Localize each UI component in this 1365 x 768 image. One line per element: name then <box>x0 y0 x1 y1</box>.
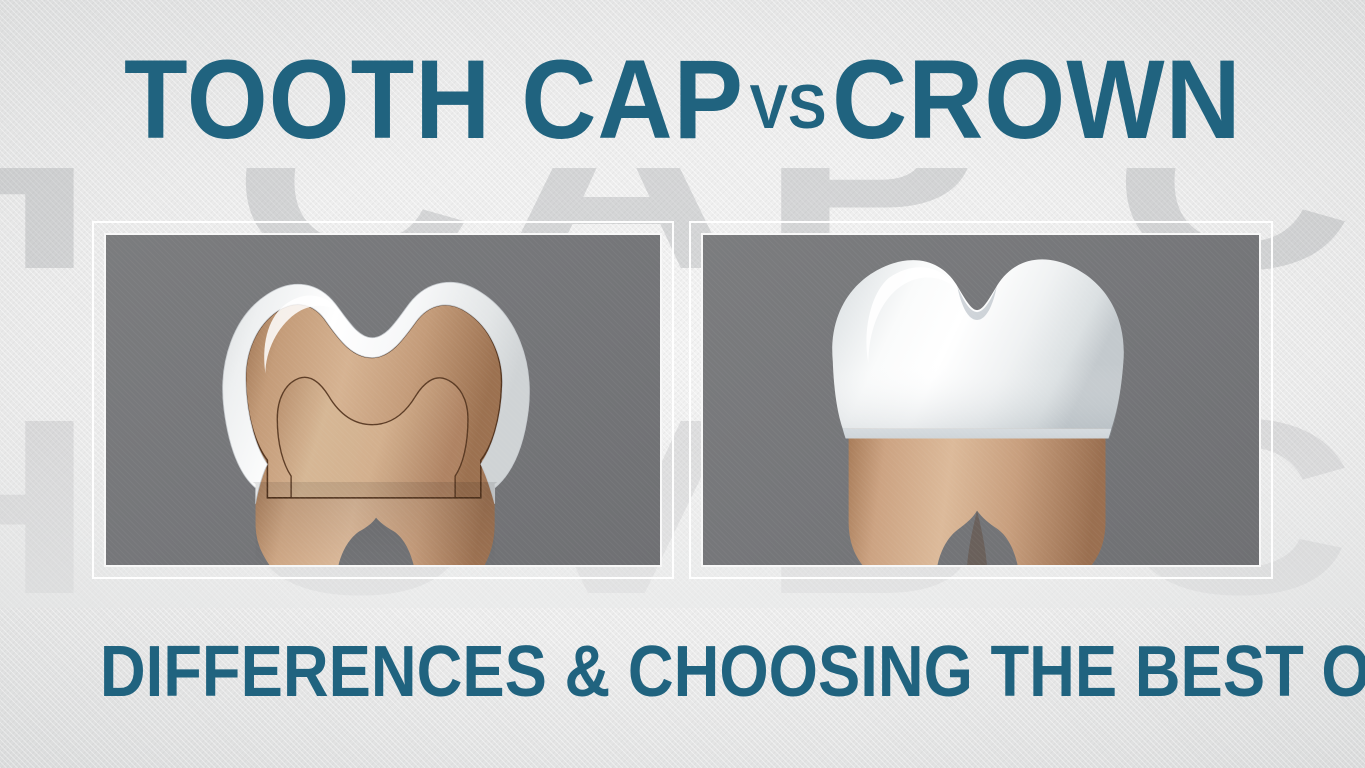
tooth-cap-illustration <box>106 235 660 565</box>
panel-crown[interactable] <box>689 221 1273 579</box>
panel-crown-inner <box>701 233 1261 567</box>
cap-highlight <box>264 296 342 374</box>
crown-margin <box>843 429 1112 439</box>
panel-tooth-cap[interactable] <box>92 221 674 579</box>
title-part-2: CROWN <box>832 37 1242 162</box>
pulp-chamber <box>277 377 468 497</box>
tooth-root <box>849 411 1106 565</box>
tooth-shading <box>107 482 658 565</box>
tooth-root <box>256 446 495 565</box>
crown-highlight <box>866 267 957 363</box>
occlusal-groove <box>957 286 997 320</box>
crown-shading <box>832 259 1124 438</box>
enamel-cap <box>223 282 530 503</box>
title-part-1: TOOTH CAP <box>124 37 744 162</box>
page-subtitle: DIFFERENCES & CHOOSING THE BEST OPTION <box>0 636 1365 708</box>
slide-canvas: TOOTH CAP CROWN TOOTH CAP CROWN TOOTH CA… <box>0 0 1365 768</box>
title-part-vs: VS <box>744 73 832 142</box>
panel-tooth-cap-inner <box>104 233 662 567</box>
crown-cap <box>832 259 1124 428</box>
crown-illustration <box>703 235 1259 565</box>
subtitle-text: DIFFERENCES & CHOOSING THE BEST OPTION <box>100 636 1365 708</box>
root-groove <box>967 511 987 565</box>
dentin-layer <box>246 304 502 498</box>
page-title: TOOTH CAPVSCROWN <box>0 44 1365 156</box>
